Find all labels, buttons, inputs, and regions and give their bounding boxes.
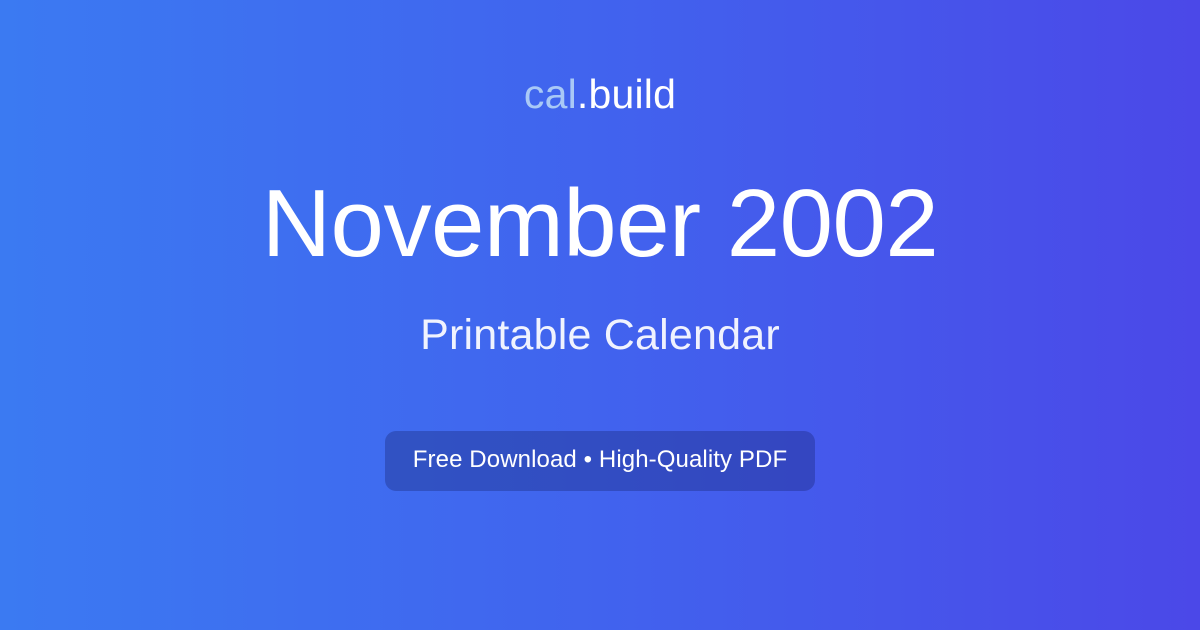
page-title: November 2002: [262, 176, 939, 272]
share-card: cal.build November 2002 Printable Calend…: [0, 0, 1200, 630]
page-subtitle: Printable Calendar: [420, 314, 780, 357]
download-badge[interactable]: Free Download • High-Quality PDF: [385, 431, 815, 491]
brand-name-secondary: .build: [577, 71, 676, 117]
brand-logo[interactable]: cal.build: [524, 74, 676, 115]
brand-name-primary: cal: [524, 71, 577, 117]
